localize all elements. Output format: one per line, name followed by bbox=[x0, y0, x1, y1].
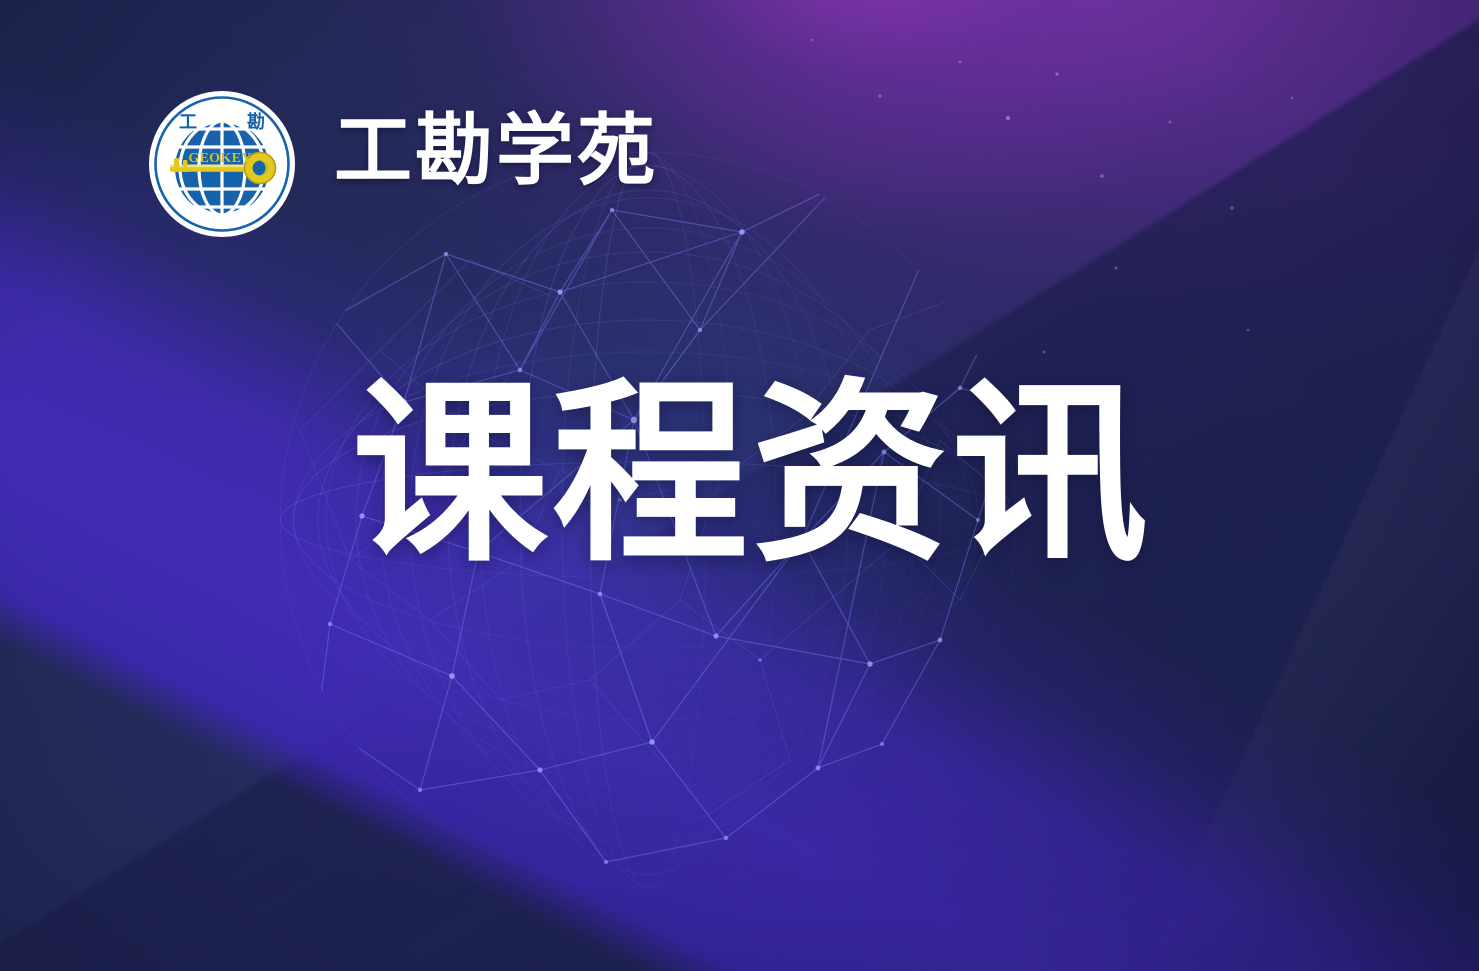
banner-canvas: GEOKEY 工 勘 工勘学苑 课程资讯 bbox=[0, 0, 1479, 971]
brand-name: 工勘学苑 bbox=[334, 112, 658, 190]
geokey-logo[interactable]: GEOKEY 工 勘 bbox=[148, 88, 296, 240]
logo-glyph-gong: 工 bbox=[179, 112, 197, 132]
logo-glyph-kan: 勘 bbox=[247, 111, 265, 132]
page-title: 课程资讯 bbox=[352, 377, 1152, 573]
logo-wordmark: GEOKEY bbox=[188, 151, 251, 166]
